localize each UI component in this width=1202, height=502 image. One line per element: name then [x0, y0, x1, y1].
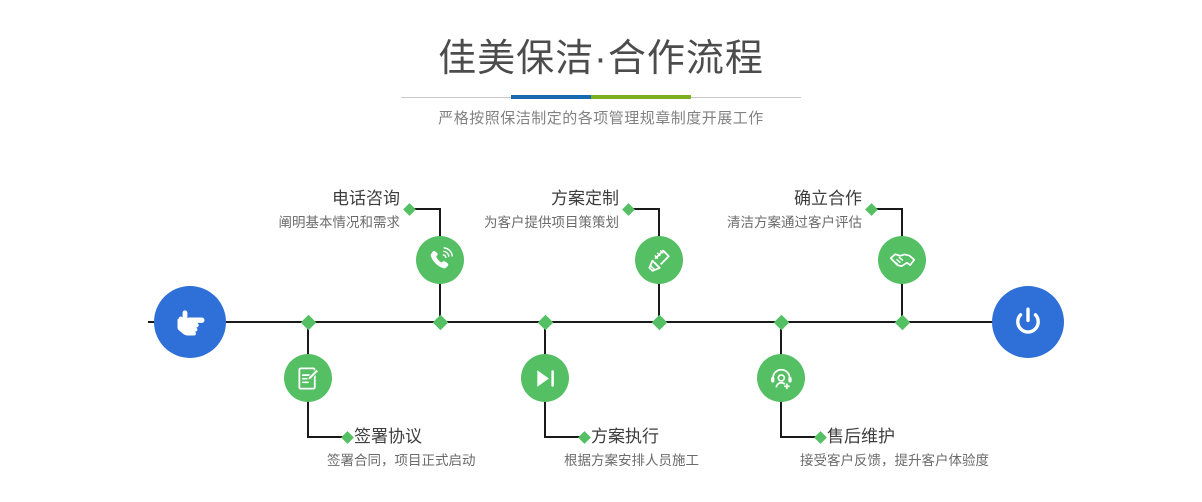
- timeline-axis: [148, 321, 1055, 323]
- step-3-elbow: [632, 208, 660, 210]
- step-2-elbow: [309, 436, 345, 438]
- step-6-label-diamond: [814, 431, 827, 444]
- document-edit-icon: [295, 365, 322, 392]
- pencil-ruler-icon: [646, 247, 673, 274]
- step-4-title: 方案执行: [591, 426, 659, 448]
- customer-service-icon: [768, 365, 795, 392]
- step-3-subtitle: 为客户提供项目策策划: [484, 213, 619, 233]
- step-4-label-diamond: [578, 431, 591, 444]
- step-1-elbow: [413, 208, 441, 210]
- step-5-label-diamond: [865, 203, 878, 216]
- step-1-icon-badge[interactable]: [416, 236, 464, 284]
- timeline: 电话咨询 阐明基本情况和需求 签署协议 签署合同，项目正式启动: [0, 0, 1202, 502]
- step-5-elbow: [875, 208, 903, 210]
- step-6-elbow: [782, 436, 818, 438]
- play-execute-icon: [532, 365, 559, 392]
- step-6-icon-badge[interactable]: [757, 354, 805, 402]
- step-5-title: 确立合作: [794, 188, 862, 210]
- step-4-icon-badge[interactable]: [521, 354, 569, 402]
- step-2-icon-badge[interactable]: [284, 354, 332, 402]
- step-3-axis-diamond: [651, 314, 667, 330]
- timeline-start-endpoint[interactable]: [154, 286, 226, 358]
- step-6-subtitle: 接受客户反馈，提升客户体验度: [800, 451, 989, 471]
- step-1-label-diamond: [403, 203, 416, 216]
- pointing-hand-icon: [170, 302, 210, 342]
- timeline-end-endpoint[interactable]: [992, 286, 1064, 358]
- step-1-axis-diamond: [432, 314, 448, 330]
- step-3-label-diamond: [622, 203, 635, 216]
- step-4-subtitle: 根据方案安排人员施工: [564, 451, 699, 471]
- step-6-axis-diamond: [773, 314, 789, 330]
- step-3-title: 方案定制: [551, 188, 619, 210]
- step-5-axis-diamond: [894, 314, 910, 330]
- step-5-icon-badge[interactable]: [878, 236, 926, 284]
- power-icon: [1008, 302, 1048, 342]
- step-5-subtitle: 清洁方案通过客户评估: [727, 213, 862, 233]
- step-2-title: 签署协议: [354, 426, 422, 448]
- phone-call-icon: [427, 247, 454, 274]
- step-6-title: 售后维护: [827, 426, 895, 448]
- handshake-icon: [889, 247, 916, 274]
- step-3-icon-badge[interactable]: [635, 236, 683, 284]
- step-1-title: 电话咨询: [332, 188, 400, 210]
- step-2-subtitle: 签署合同，项目正式启动: [327, 451, 476, 471]
- step-4-axis-diamond: [537, 314, 553, 330]
- step-1-subtitle: 阐明基本情况和需求: [279, 213, 401, 233]
- step-2-axis-diamond: [300, 314, 316, 330]
- step-2-label-diamond: [341, 431, 354, 444]
- step-4-elbow: [546, 436, 582, 438]
- process-flow-infographic: 佳美保洁·合作流程 严格按照保洁制定的各项管理规章制度开展工作: [0, 0, 1202, 502]
